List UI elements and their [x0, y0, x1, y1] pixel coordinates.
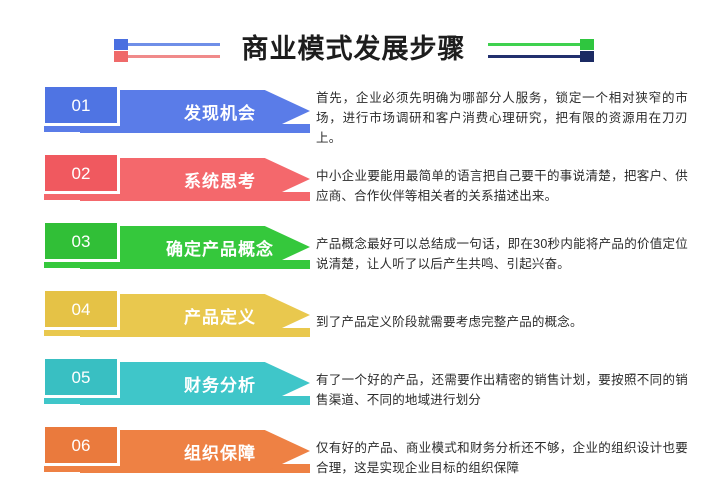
step-number: 06: [72, 437, 91, 454]
step-row: 发现机会 01 首先，企业必须先明确为哪部分人服务，锁定一个相对狭窄的市场，进行…: [0, 84, 707, 152]
step-description: 产品概念最好可以总结成一句话，即在30秒内能将产品的价值定位说清楚，让人听了以后…: [316, 220, 688, 288]
step-row: 财务分析 05 有了一个好的产品，还需要作出精密的销售计划，要按照不同的销售渠道…: [0, 356, 707, 424]
step-row: 系统思考 02 中小企业要能用最简单的语言把自己要干的事说清楚，把客户、供应商、…: [0, 152, 707, 220]
step-row: 组织保障 06 仅有好的产品、商业模式和财务分析还不够，企业的组织设计也要合理，…: [0, 424, 707, 492]
step-number-badge: 01: [42, 84, 120, 126]
decoration-right-bottom-square: [580, 51, 594, 62]
decoration-right: [484, 34, 596, 64]
step-number: 05: [72, 369, 91, 386]
step-description: 仅有好的产品、商业模式和财务分析还不够，企业的组织设计也要合理，这是实现企业目标…: [316, 424, 688, 492]
step-number: 01: [72, 97, 91, 114]
decoration-right-top-square: [580, 39, 594, 50]
step-description: 首先，企业必须先明确为哪部分人服务，锁定一个相对狭窄的市场，进行市场调研和客户消…: [316, 84, 688, 152]
decoration-left-top-square: [114, 39, 128, 50]
step-number-badge: 02: [42, 152, 120, 194]
step-number-badge: 05: [42, 356, 120, 398]
page-header: 商业模式发展步骤: [0, 26, 707, 72]
infographic-page: 商业模式发展步骤 发现机会 01 首先，企业必须先明确为哪部分人服务，锁定一个相…: [0, 0, 707, 500]
step-description: 中小企业要能用最简单的语言把自己要干的事说清楚，把客户、供应商、合作伙伴等相关者…: [316, 152, 688, 220]
decoration-right-bottom-line: [488, 55, 580, 58]
decoration-right-top-line: [488, 43, 580, 46]
step-row: 确定产品概念 03 产品概念最好可以总结成一句话，即在30秒内能将产品的价值定位…: [0, 220, 707, 288]
step-number-badge: 03: [42, 220, 120, 262]
step-number-badge: 06: [42, 424, 120, 466]
step-number: 03: [72, 233, 91, 250]
step-number: 02: [72, 165, 91, 182]
step-row: 产品定义 04 到了产品定义阶段就需要考虑完整产品的概念。: [0, 288, 707, 356]
step-number: 04: [72, 301, 91, 318]
decoration-left-top-line: [128, 43, 220, 46]
step-description: 到了产品定义阶段就需要考虑完整产品的概念。: [316, 288, 688, 356]
step-description: 有了一个好的产品，还需要作出精密的销售计划，要按照不同的销售渠道、不同的地域进行…: [316, 356, 688, 424]
decoration-left-bottom-square: [114, 51, 128, 62]
decoration-left: [112, 34, 224, 64]
page-title: 商业模式发展步骤: [242, 36, 466, 63]
step-number-badge: 04: [42, 288, 120, 330]
decoration-left-bottom-line: [128, 55, 220, 58]
steps-list: 发现机会 01 首先，企业必须先明确为哪部分人服务，锁定一个相对狭窄的市场，进行…: [0, 84, 707, 492]
